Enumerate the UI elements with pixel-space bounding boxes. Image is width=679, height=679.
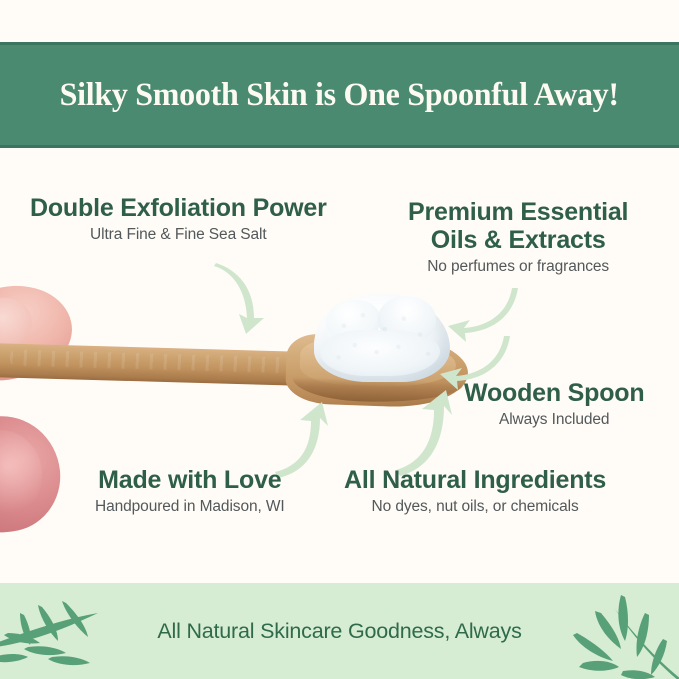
feature-premium-oils: Premium Essential Oils & Extracts No per… bbox=[408, 198, 628, 277]
feature-subtitle: No dyes, nut oils, or chemicals bbox=[344, 497, 606, 517]
feature-subtitle: No perfumes or fragrances bbox=[408, 257, 628, 277]
feature-title: Wooden Spoon bbox=[464, 379, 644, 407]
header-title: Silky Smooth Skin is One Spoonful Away! bbox=[60, 77, 619, 114]
feature-subtitle: Ultra Fine & Fine Sea Salt bbox=[30, 225, 327, 245]
feature-title: Double Exfoliation Power bbox=[30, 194, 327, 222]
footer-banner: All Natural Skincare Goodness, Always bbox=[0, 583, 679, 679]
leaf-branch-icon bbox=[0, 585, 124, 679]
footer-tagline: All Natural Skincare Goodness, Always bbox=[157, 619, 521, 644]
feature-all-natural-ingredients: All Natural Ingredients No dyes, nut oil… bbox=[344, 466, 606, 517]
feature-subtitle: Always Included bbox=[464, 410, 644, 430]
feature-title-line1: Premium Essential bbox=[408, 198, 628, 226]
feature-made-with-love: Made with Love Handpoured in Madison, WI bbox=[95, 466, 285, 517]
leaf-branch-icon bbox=[563, 583, 679, 679]
feature-double-exfoliation: Double Exfoliation Power Ultra Fine & Fi… bbox=[30, 194, 327, 245]
feature-title-line2: Oils & Extracts bbox=[408, 226, 628, 254]
header-banner: Silky Smooth Skin is One Spoonful Away! bbox=[0, 42, 679, 148]
feature-wooden-spoon: Wooden Spoon Always Included bbox=[464, 379, 644, 430]
feature-subtitle: Handpoured in Madison, WI bbox=[95, 497, 285, 517]
feature-title: Made with Love bbox=[95, 466, 285, 494]
product-infographic: Silky Smooth Skin is One Spoonful Away! bbox=[0, 0, 679, 679]
feature-title: All Natural Ingredients bbox=[344, 466, 606, 494]
